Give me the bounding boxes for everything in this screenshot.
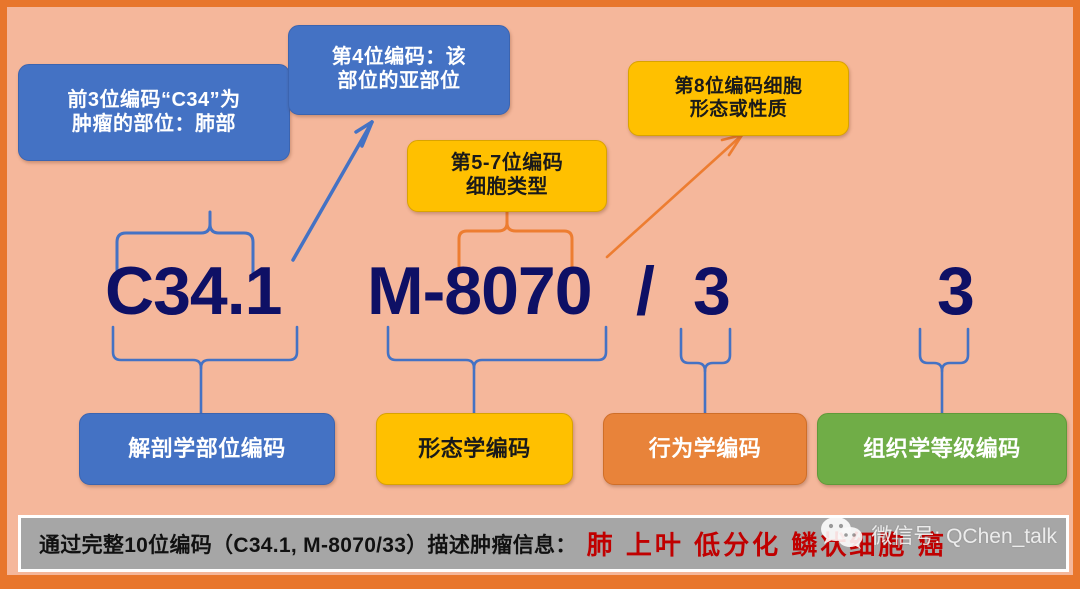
brace-bottom-anatomic: [113, 327, 297, 413]
arrow-digit8: [607, 135, 742, 257]
code-anatomic: C34.1: [105, 257, 281, 325]
callout-digit4-line1: 第4位编码：该: [332, 46, 467, 70]
summary-banner-text: 通过完整10位编码（C34.1, M-8070/33）描述肿瘤信息：: [39, 529, 577, 559]
code-morphology: M-8070: [367, 257, 592, 325]
callout-anatomic-prefix-line2: 肿瘤的部位：肺部: [67, 113, 240, 137]
callout-digit8: 第8位编码细胞 形态或性质: [628, 61, 849, 136]
code-behavior: 3: [693, 257, 730, 325]
label-morphology-code: 形态学编码: [376, 413, 573, 485]
label-anatomic-code: 解剖学部位编码: [79, 413, 335, 485]
callout-digit4-line2: 部位的亚部位: [332, 70, 467, 94]
callout-digit5-7: 第5-7位编码 细胞类型: [407, 140, 607, 212]
arrow-digit4: [293, 122, 372, 260]
watermark-label: 微信号: QChen_talk: [871, 520, 1057, 550]
wechat-icon: [820, 516, 864, 555]
callout-digit5-7-line1: 第5-7位编码: [451, 152, 563, 176]
callout-digit5-7-line2: 细胞类型: [451, 176, 563, 200]
brace-bottom-grade: [920, 329, 968, 413]
brace-bottom-morphology: [388, 327, 606, 413]
code-grade: 3: [937, 257, 974, 325]
callout-anatomic-prefix-line1: 前3位编码“C34”为: [67, 89, 240, 113]
slide-canvas: 前3位编码“C34”为 肿瘤的部位：肺部 第4位编码：该 部位的亚部位 第5-7…: [0, 0, 1080, 582]
callout-anatomic-prefix: 前3位编码“C34”为 肿瘤的部位：肺部: [18, 64, 290, 161]
label-grade-code: 组织学等级编码: [817, 413, 1067, 485]
label-behavior-code: 行为学编码: [603, 413, 807, 485]
code-separator: /: [636, 257, 654, 325]
callout-digit4: 第4位编码：该 部位的亚部位: [288, 25, 510, 115]
brace-bottom-behavior: [681, 329, 730, 413]
callout-digit8-line2: 形态或性质: [674, 99, 802, 121]
callout-digit8-line1: 第8位编码细胞: [674, 76, 802, 98]
watermark: 微信号: QChen_talk: [820, 515, 1057, 555]
